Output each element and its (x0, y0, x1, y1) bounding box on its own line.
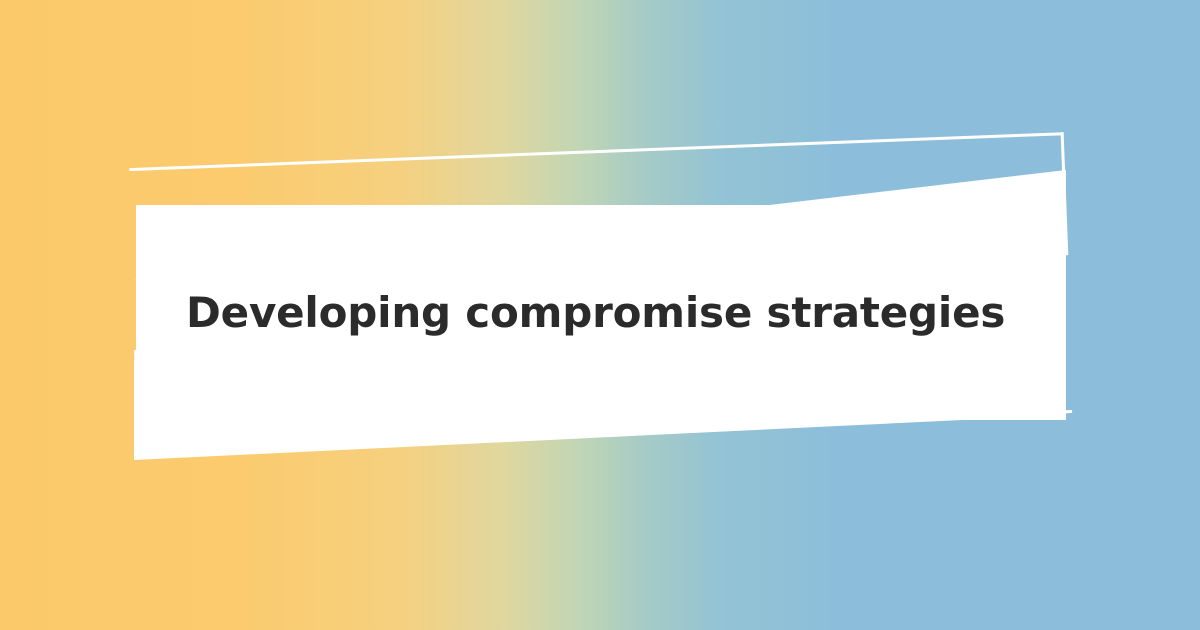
title-card: Developing compromise strategies (136, 205, 1066, 420)
banner: Developing compromise strategies (0, 0, 1200, 630)
page-title: Developing compromise strategies (186, 287, 1036, 337)
